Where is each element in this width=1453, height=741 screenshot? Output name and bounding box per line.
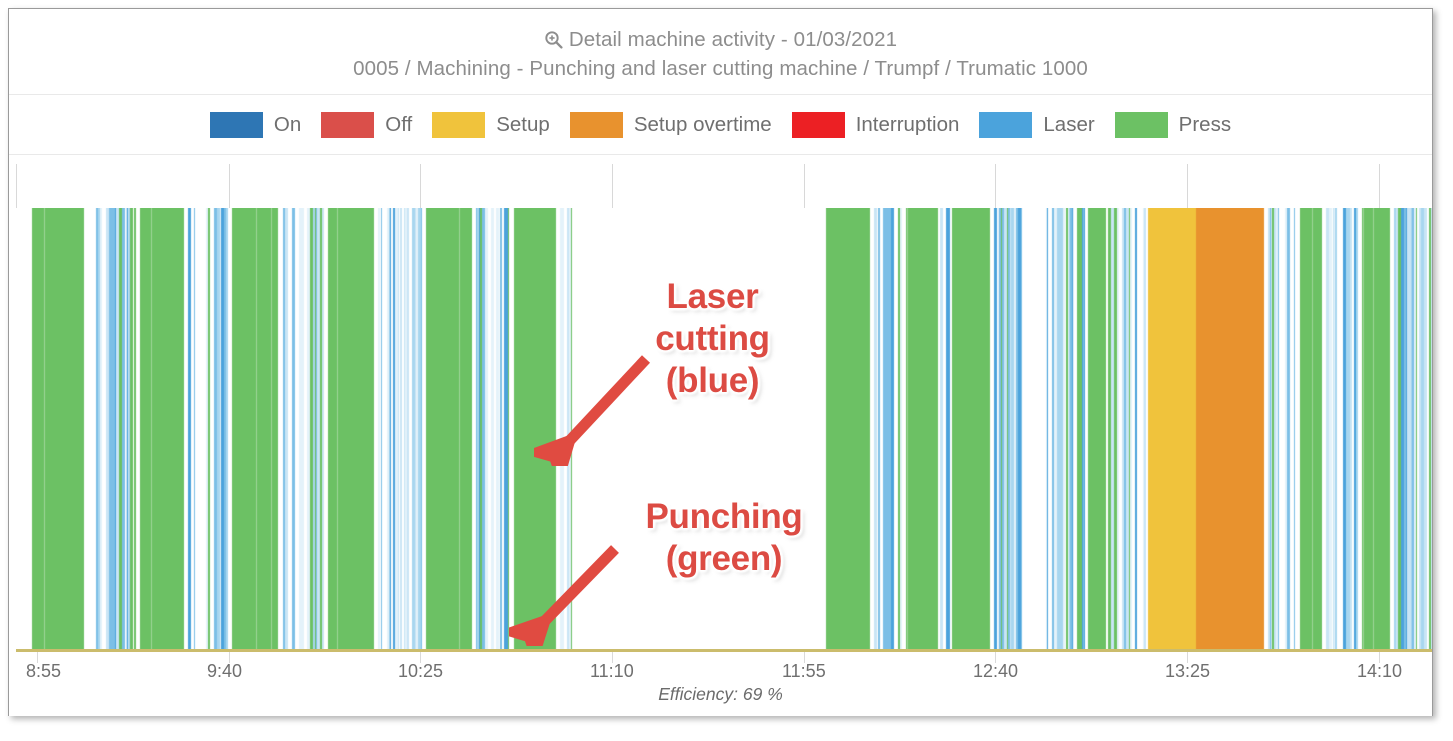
x-axis-tick-label: 8:55: [26, 661, 61, 682]
legend-item-label: Laser: [1043, 113, 1094, 137]
legend-item-interruption[interactable]: Interruption: [792, 112, 960, 138]
legend-swatch-icon: [210, 112, 263, 138]
x-axis-tick-label: 12:40: [973, 661, 1018, 682]
gridline: [420, 164, 421, 208]
page-title-text: Detail machine activity - 01/03/2021: [569, 28, 897, 51]
legend-item-label: On: [274, 113, 301, 137]
gridline: [1187, 164, 1188, 208]
legend-item-laser[interactable]: Laser: [979, 112, 1094, 138]
legend-item-press[interactable]: Press: [1115, 112, 1231, 138]
plot-baseline: [16, 649, 1432, 652]
legend-swatch-icon: [321, 112, 374, 138]
legend-item-on[interactable]: On: [210, 112, 301, 138]
gridline: [995, 164, 996, 208]
x-axis-tick-label: 11:10: [590, 661, 634, 682]
legend-item-label: Press: [1179, 113, 1231, 137]
legend-swatch-icon: [432, 112, 485, 138]
annotation-arrow-punching: [509, 541, 624, 646]
legend-item-off[interactable]: Off: [321, 112, 412, 138]
chart-header: Detail machine activity - 01/03/2021 000…: [9, 9, 1432, 95]
legend-swatch-icon: [979, 112, 1032, 138]
page-title: Detail machine activity - 01/03/2021: [9, 28, 1432, 55]
legend-item-label: Off: [385, 113, 412, 137]
efficiency-label: Efficiency: 69 %: [9, 684, 1432, 705]
x-axis-tick-label: 11:55: [782, 661, 826, 682]
x-axis-tick-label: 9:40: [207, 661, 242, 682]
legend-swatch-icon: [570, 112, 623, 138]
activity-timeline-chart: 8:559:4010:2511:1011:5512:4013:2514:10 E…: [9, 156, 1432, 716]
gridline: [612, 164, 613, 208]
timeline-plot[interactable]: [16, 208, 1432, 649]
annotation-arrow-laser: [534, 351, 654, 466]
legend-item-label: Setup overtime: [634, 113, 772, 137]
x-axis-tick-label: 13:25: [1165, 661, 1210, 682]
gridline: [229, 164, 230, 208]
x-axis-tick-label: 14:10: [1357, 661, 1402, 682]
legend-swatch-icon: [1115, 112, 1168, 138]
legend-item-setup[interactable]: Setup: [432, 112, 550, 138]
timeline-segments: [16, 208, 1432, 649]
legend-item-setup-overtime[interactable]: Setup overtime: [570, 112, 772, 138]
zoom-in-icon[interactable]: [544, 30, 563, 55]
legend-swatch-icon: [792, 112, 845, 138]
gridline: [804, 164, 805, 208]
annotation-punching: Punching (green): [609, 496, 839, 580]
legend-item-label: Setup: [496, 113, 550, 137]
machine-activity-window: Detail machine activity - 01/03/2021 000…: [8, 8, 1433, 716]
page-subtitle: 0005 / Machining - Punching and laser cu…: [9, 57, 1432, 81]
legend-item-label: Interruption: [856, 113, 960, 137]
x-axis-tick-label: 10:25: [398, 661, 443, 682]
chart-legend: OnOffSetupSetup overtimeInterruptionLase…: [9, 95, 1432, 155]
gridline: [1379, 164, 1380, 208]
